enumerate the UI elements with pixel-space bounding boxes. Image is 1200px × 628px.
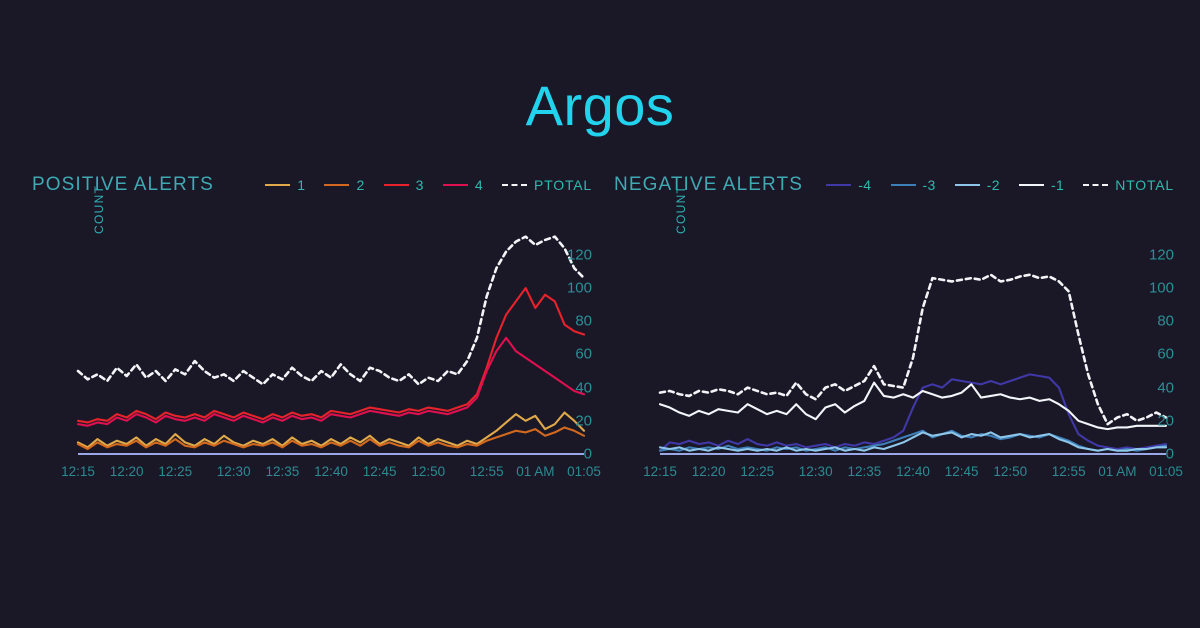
panel-title-positive: POSITIVE ALERTS: [32, 174, 214, 196]
legend-line-icon-p1: [265, 184, 290, 186]
legend-item-n3[interactable]: -3: [891, 177, 936, 193]
x-tick-label: 12:55: [470, 464, 504, 479]
y-tick-label: 60: [1138, 346, 1174, 363]
legend-items-negative: -4 -3 -2 -1 NTOTAL: [826, 177, 1174, 193]
argos-dashboard: Argos POSITIVE ALERTS 1 2 3: [0, 0, 1200, 628]
chart-canvas: [32, 216, 592, 488]
y-tick-label: 40: [1138, 379, 1174, 396]
legend-line-icon-p2: [324, 184, 349, 186]
plot-positive-alerts[interactable]: 020406080100120COUNT12:1512:2012:2512:30…: [32, 216, 592, 488]
legend-line-icon-ptotal: [502, 184, 527, 186]
legend-item-p3[interactable]: 3: [384, 177, 424, 193]
legend-label-p2: 2: [356, 177, 364, 193]
panel-title-negative: NEGATIVE ALERTS: [614, 174, 803, 196]
x-tick-label: 12:35: [847, 464, 881, 479]
legend-label-n3: -3: [923, 177, 936, 193]
x-tick-label: 12:25: [740, 464, 774, 479]
legend-item-n2[interactable]: -2: [955, 177, 1000, 193]
x-tick-label: 12:45: [363, 464, 397, 479]
series-line-4: [78, 338, 584, 426]
panel-positive-alerts: POSITIVE ALERTS 1 2 3 4: [32, 170, 592, 488]
x-tick-label: 12:35: [265, 464, 299, 479]
legend-line-icon-n3: [891, 184, 916, 186]
x-tick-label: 12:15: [61, 464, 95, 479]
y-axis-title: COUNT: [674, 185, 688, 234]
legend-label-n2: -2: [987, 177, 1000, 193]
legend-label-p3: 3: [416, 177, 424, 193]
y-tick-label: 120: [1138, 246, 1174, 263]
x-tick-label: 01:05: [567, 464, 601, 479]
y-tick-label: 60: [556, 346, 592, 363]
y-tick-label: 0: [556, 446, 592, 463]
x-tick-label: 12:45: [945, 464, 979, 479]
x-tick-label: 12:30: [799, 464, 833, 479]
chart-canvas: [614, 216, 1174, 488]
x-tick-label: 12:30: [217, 464, 251, 479]
legend-label-ptotal: PTOTAL: [534, 177, 592, 193]
legend-line-icon-n2: [955, 184, 980, 186]
legend-line-icon-p4: [443, 184, 468, 186]
legend-row-positive: POSITIVE ALERTS 1 2 3 4: [32, 170, 592, 200]
legend-line-icon-ntotal: [1083, 184, 1108, 186]
series-line-3: [78, 288, 584, 422]
y-axis-title: COUNT: [92, 185, 106, 234]
page-title: Argos: [0, 78, 1200, 134]
x-tick-label: 12:50: [993, 464, 1027, 479]
legend-item-ntotal[interactable]: NTOTAL: [1083, 177, 1174, 193]
legend-label-n4: -4: [858, 177, 871, 193]
legend-label-p4: 4: [475, 177, 483, 193]
y-tick-label: 100: [556, 280, 592, 297]
legend-row-negative: NEGATIVE ALERTS -4 -3 -2 -1: [614, 170, 1174, 200]
x-tick-label: 12:20: [692, 464, 726, 479]
y-tick-label: 100: [1138, 280, 1174, 297]
x-tick-label: 12:20: [110, 464, 144, 479]
panel-negative-alerts: NEGATIVE ALERTS -4 -3 -2 -1: [614, 170, 1174, 488]
x-tick-label: 01 AM: [1098, 464, 1136, 479]
plot-negative-alerts[interactable]: 020406080100120COUNT12:1512:2012:2512:30…: [614, 216, 1174, 488]
legend-label-n1: -1: [1051, 177, 1064, 193]
x-tick-label: 12:15: [643, 464, 677, 479]
x-tick-label: 12:40: [314, 464, 348, 479]
series-line-NTOTAL: [660, 275, 1166, 424]
x-tick-label: 12:55: [1052, 464, 1086, 479]
x-tick-label: 12:50: [411, 464, 445, 479]
legend-label-p1: 1: [297, 177, 305, 193]
y-tick-label: 120: [556, 246, 592, 263]
legend-line-icon-n4: [826, 184, 851, 186]
y-tick-label: 0: [1138, 446, 1174, 463]
legend-items-positive: 1 2 3 4 PTOTAL: [265, 177, 592, 193]
x-tick-label: 01:05: [1149, 464, 1183, 479]
y-tick-label: 80: [1138, 313, 1174, 330]
legend-item-p1[interactable]: 1: [265, 177, 305, 193]
x-tick-label: 01 AM: [516, 464, 554, 479]
y-tick-label: 40: [556, 379, 592, 396]
legend-label-ntotal: NTOTAL: [1115, 177, 1174, 193]
y-tick-label: 20: [556, 412, 592, 429]
legend-item-p2[interactable]: 2: [324, 177, 364, 193]
legend-line-icon-p3: [384, 184, 409, 186]
y-tick-label: 80: [556, 313, 592, 330]
legend-item-n4[interactable]: -4: [826, 177, 871, 193]
x-tick-label: 12:40: [896, 464, 930, 479]
legend-item-n1[interactable]: -1: [1019, 177, 1064, 193]
legend-item-ptotal[interactable]: PTOTAL: [502, 177, 592, 193]
y-tick-label: 20: [1138, 412, 1174, 429]
x-tick-label: 12:25: [158, 464, 192, 479]
legend-item-p4[interactable]: 4: [443, 177, 483, 193]
legend-line-icon-n1: [1019, 184, 1044, 186]
